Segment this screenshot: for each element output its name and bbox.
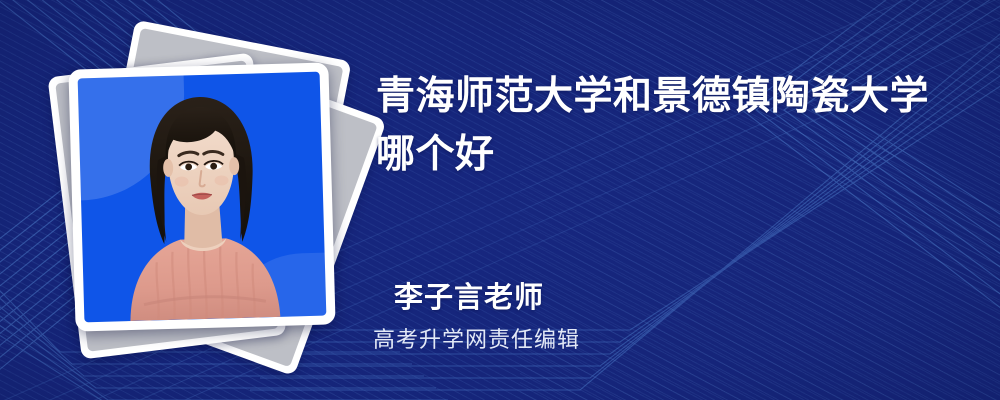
author-photo-frame (68, 62, 335, 331)
photo-stack (60, 28, 360, 373)
author-role: 高考升学网责任编辑 (373, 322, 580, 354)
banner-headline: 青海师范大学和景德镇陶瓷大学哪个好 (376, 68, 956, 184)
author-name: 李子言老师 (394, 274, 544, 316)
banner-text-column: 青海师范大学和景德镇陶瓷大学哪个好 李子言老师 高考升学网责任编辑 (372, 0, 972, 400)
promo-banner: 青海师范大学和景德镇陶瓷大学哪个好 李子言老师 高考升学网责任编辑 (0, 0, 1000, 400)
author-portrait-illustration (78, 72, 327, 323)
author-photo (78, 72, 327, 323)
